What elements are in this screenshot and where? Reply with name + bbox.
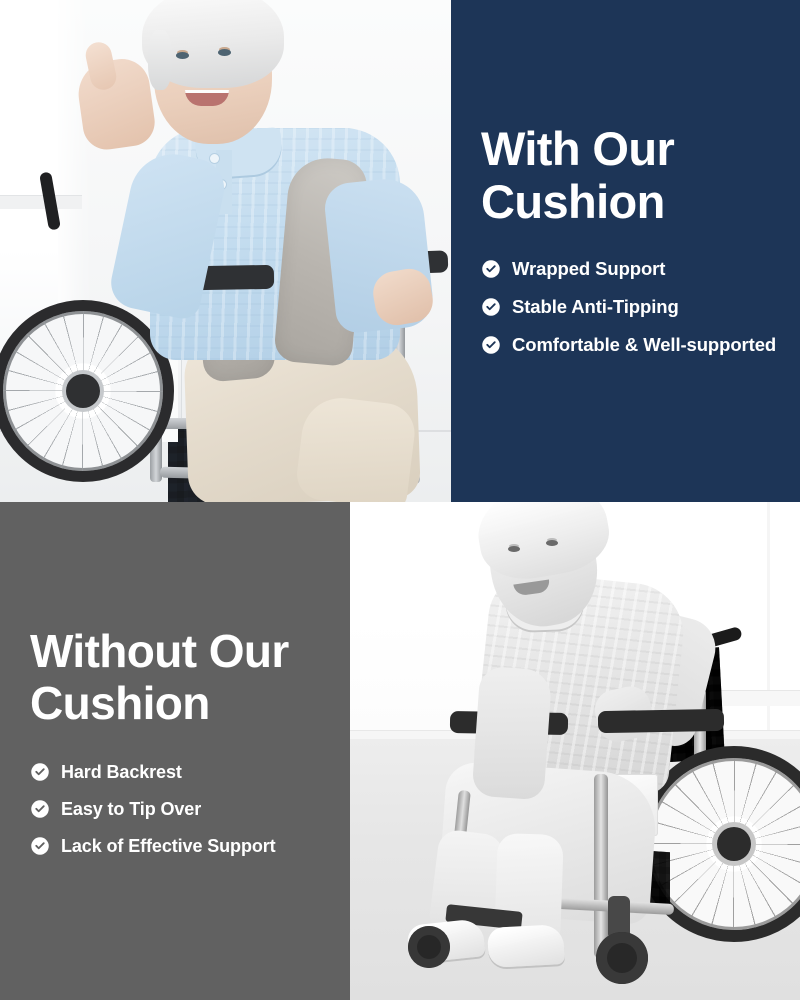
feature-list-with: Wrapped Support Stable Anti-Tipping Comf… [481, 258, 800, 356]
photo-without-cushion [350, 502, 800, 1000]
wheelchair-bw-illustration [350, 502, 800, 1000]
person-hair [142, 0, 284, 88]
check-circle-icon [481, 297, 501, 317]
check-circle-icon [481, 335, 501, 355]
feature-label: Comfortable & Well-supported [512, 334, 776, 356]
person-eye-right [218, 49, 231, 56]
person-eye-left [176, 52, 189, 59]
person-eye-left [508, 546, 520, 552]
wheelchair-rear-wheel [0, 300, 174, 482]
feature-item: Stable Anti-Tipping [481, 296, 800, 318]
comparison-poster: With Our Cushion Wrapped Support Stable … [0, 0, 800, 1000]
panel-with-our-cushion: With Our Cushion Wrapped Support Stable … [451, 0, 800, 502]
person-lower-leg [294, 394, 418, 502]
panel-headline-without: Without Our Cushion [30, 626, 350, 730]
check-circle-icon [30, 762, 50, 782]
panel-headline-with: With Our Cushion [481, 122, 800, 228]
wheelchair-caster-left [408, 926, 450, 968]
feature-item: Comfortable & Well-supported [481, 334, 800, 356]
wheelchair-color-illustration [0, 0, 451, 502]
feature-item: Hard Backrest [30, 762, 350, 783]
feature-label: Easy to Tip Over [61, 799, 201, 820]
wheelchair-caster-right [596, 932, 648, 984]
feature-label: Lack of Effective Support [61, 836, 276, 857]
feature-item: Easy to Tip Over [30, 799, 350, 820]
feature-list-without: Hard Backrest Easy to Tip Over Lack of E… [30, 762, 350, 857]
wheelchair-armrest-right [598, 709, 724, 733]
feature-item: Wrapped Support [481, 258, 800, 280]
photo-with-cushion [0, 0, 451, 502]
wheel-hub [717, 827, 751, 861]
panel-without-our-cushion: Without Our Cushion Hard Backrest Easy t… [0, 502, 350, 1000]
wheelchair-frame-mid-post [594, 774, 608, 958]
check-circle-icon [481, 259, 501, 279]
feature-label: Hard Backrest [61, 762, 182, 783]
window-sill [0, 195, 82, 209]
person-shoe-right [487, 924, 565, 968]
feature-label: Wrapped Support [512, 258, 665, 280]
feature-label: Stable Anti-Tipping [512, 296, 679, 318]
bottom-row: Without Our Cushion Hard Backrest Easy t… [0, 502, 800, 1000]
feature-item: Lack of Effective Support [30, 836, 350, 857]
sweater-button-top [210, 154, 219, 163]
top-row: With Our Cushion Wrapped Support Stable … [0, 0, 800, 502]
check-circle-icon [30, 799, 50, 819]
check-circle-icon [30, 836, 50, 856]
person-front-arm [472, 666, 553, 801]
wheel-hub [66, 374, 100, 408]
person-eye-right [546, 540, 558, 546]
